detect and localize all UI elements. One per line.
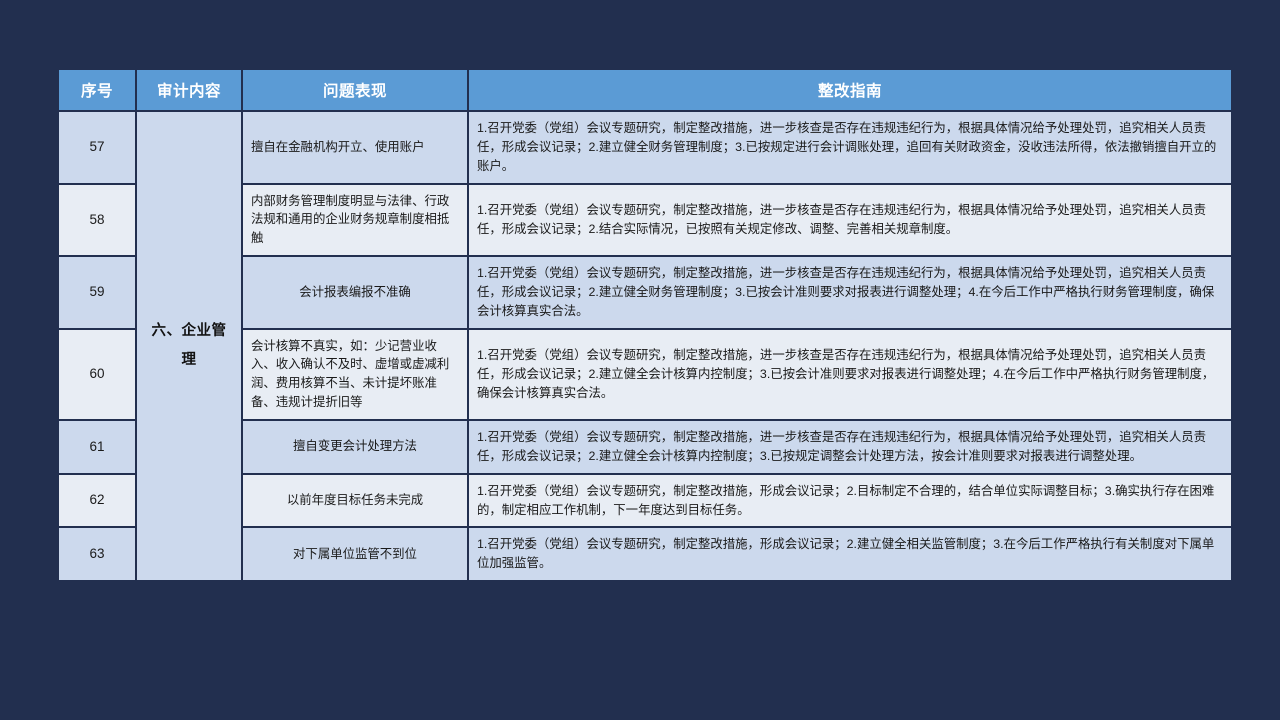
cell-problem: 对下属单位监管不到位: [243, 528, 467, 580]
table-header: 序号 审计内容 问题表现 整改指南: [59, 70, 1231, 110]
cell-problem: 会计核算不真实，如：少记营业收入、收入确认不及时、虚增或虚减利润、费用核算不当、…: [243, 330, 467, 419]
cell-no: 57: [59, 112, 135, 183]
column-header-no: 序号: [59, 70, 135, 110]
cell-guide: 1.召开党委（党组）会议专题研究，制定整改措施，进一步核查是否存在违规违纪行为，…: [469, 421, 1231, 473]
cell-no: 62: [59, 475, 135, 527]
cell-no: 59: [59, 257, 135, 328]
cell-guide: 1.召开党委（党组）会议专题研究，制定整改措施，进一步核查是否存在违规违纪行为，…: [469, 330, 1231, 419]
slide-canvas: 序号 审计内容 问题表现 整改指南 57 六、企业管理 擅自在金融机构开立、使用…: [0, 0, 1280, 720]
table-row: 57 六、企业管理 擅自在金融机构开立、使用账户 1.召开党委（党组）会议专题研…: [59, 112, 1231, 183]
cell-problem: 以前年度目标任务未完成: [243, 475, 467, 527]
cell-guide: 1.召开党委（党组）会议专题研究，制定整改措施，形成会议记录；2.建立健全相关监…: [469, 528, 1231, 580]
cell-no: 60: [59, 330, 135, 419]
cell-guide: 1.召开党委（党组）会议专题研究，制定整改措施，进一步核查是否存在违规违纪行为，…: [469, 112, 1231, 183]
cell-no: 63: [59, 528, 135, 580]
cell-guide: 1.召开党委（党组）会议专题研究，制定整改措施，进一步核查是否存在违规违纪行为，…: [469, 185, 1231, 256]
cell-no: 61: [59, 421, 135, 473]
cell-audit-category: 六、企业管理: [137, 112, 241, 580]
audit-table: 序号 审计内容 问题表现 整改指南 57 六、企业管理 擅自在金融机构开立、使用…: [57, 68, 1233, 582]
audit-table-container: 序号 审计内容 问题表现 整改指南 57 六、企业管理 擅自在金融机构开立、使用…: [57, 68, 1223, 656]
cell-guide: 1.召开党委（党组）会议专题研究，制定整改措施，形成会议记录；2.目标制定不合理…: [469, 475, 1231, 527]
cell-problem: 擅自在金融机构开立、使用账户: [243, 112, 467, 183]
column-header-problem: 问题表现: [243, 70, 467, 110]
cell-problem: 内部财务管理制度明显与法律、行政法规和通用的企业财务规章制度相抵触: [243, 185, 467, 256]
column-header-guide: 整改指南: [469, 70, 1231, 110]
cell-problem: 会计报表编报不准确: [243, 257, 467, 328]
table-header-row: 序号 审计内容 问题表现 整改指南: [59, 70, 1231, 110]
column-header-audit-content: 审计内容: [137, 70, 241, 110]
cell-guide: 1.召开党委（党组）会议专题研究，制定整改措施，进一步核查是否存在违规违纪行为，…: [469, 257, 1231, 328]
cell-problem: 擅自变更会计处理方法: [243, 421, 467, 473]
cell-no: 58: [59, 185, 135, 256]
table-body: 57 六、企业管理 擅自在金融机构开立、使用账户 1.召开党委（党组）会议专题研…: [59, 112, 1231, 580]
